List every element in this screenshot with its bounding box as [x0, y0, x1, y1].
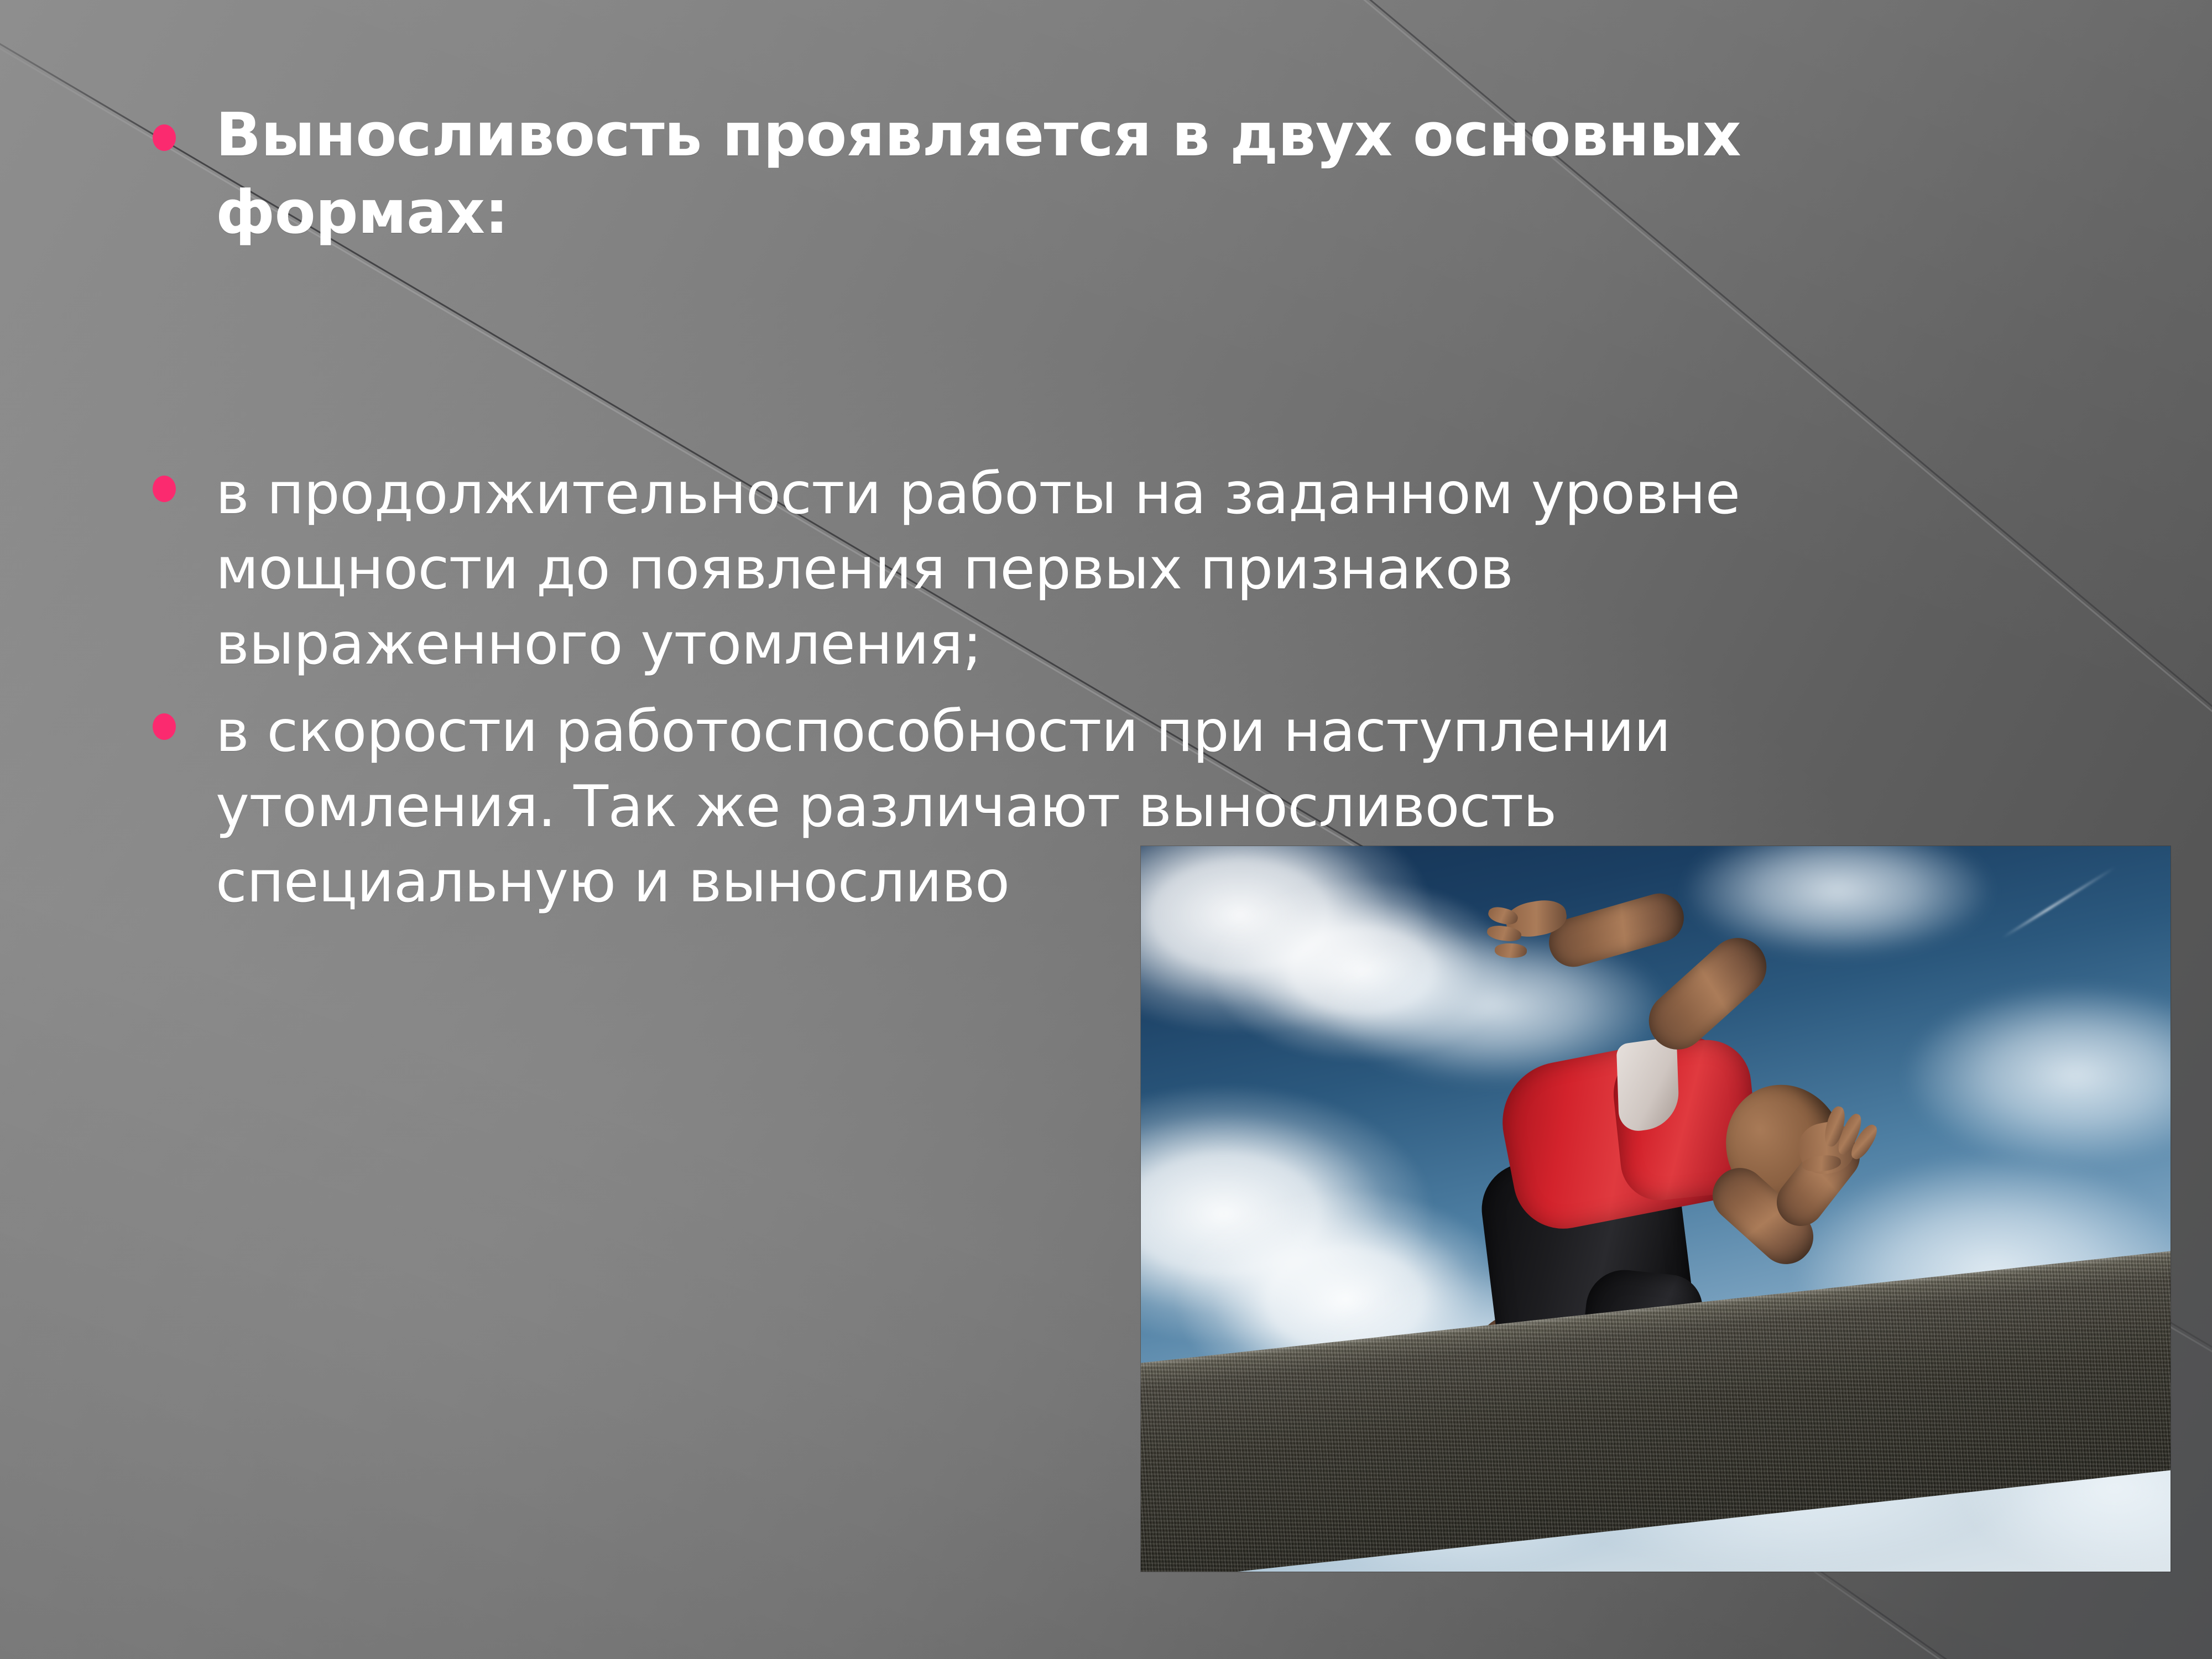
- runner-back-forearm: [1543, 888, 1690, 973]
- round-bullet-icon: [153, 124, 176, 151]
- presentation-slide: Выносливость проявляется в двух основных…: [0, 0, 2212, 1659]
- bullet-item-1: в продолжительности работы на заданном у…: [138, 457, 2007, 682]
- runner-photo: [1141, 846, 2171, 1572]
- bullet-item-title: Выносливость проявляется в двух основных…: [138, 97, 2007, 252]
- slide-title-text: Выносливость проявляется в двух основных…: [216, 97, 2007, 252]
- runner-finger: [1495, 943, 1527, 958]
- slide-body: Выносливость проявляется в двух основных…: [138, 97, 2007, 920]
- bullet-item-1-text: в продолжительности работы на заданном у…: [216, 457, 2007, 682]
- spacer: [138, 682, 2007, 695]
- round-bullet-icon: [153, 713, 176, 740]
- round-bullet-icon: [153, 476, 176, 502]
- spacer: [138, 252, 2007, 457]
